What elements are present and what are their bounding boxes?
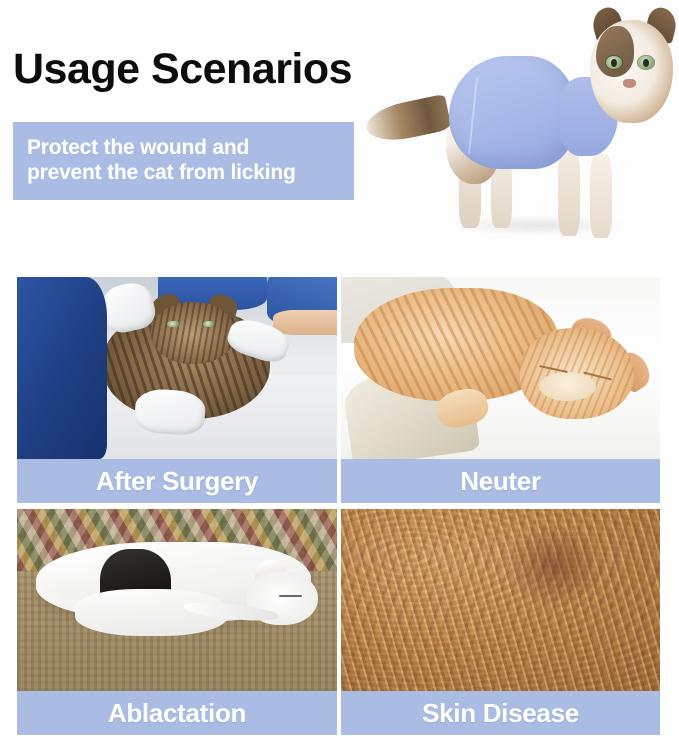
vet-scrubs-left bbox=[17, 277, 107, 459]
ablactation-photo bbox=[17, 509, 337, 691]
usage-scenarios-infographic: Usage Scenarios Protect the wound and pr… bbox=[0, 0, 679, 740]
nursing-cats-illustration bbox=[17, 509, 337, 691]
subtitle-line-1: Protect the wound and bbox=[27, 136, 249, 159]
after-surgery-photo bbox=[17, 277, 337, 459]
sleeping-ginger-cat-illustration bbox=[341, 277, 660, 459]
tile-label-text: Skin Disease bbox=[422, 698, 579, 729]
mother-cat-eye bbox=[279, 595, 301, 597]
tabby-eye-left bbox=[167, 321, 180, 327]
cat-front-leg-right bbox=[590, 154, 612, 238]
scenario-tile-after-surgery: After Surgery bbox=[17, 277, 337, 503]
subtitle-text: Protect the wound and prevent the cat fr… bbox=[13, 136, 304, 186]
scenario-tile-skin-disease: Skin Disease bbox=[341, 509, 660, 735]
scenario-tile-ablactation: Ablactation bbox=[17, 509, 337, 735]
fur-wave-pattern bbox=[341, 509, 660, 691]
cat-eye-right bbox=[638, 56, 655, 69]
cat-front-leg-left bbox=[558, 148, 580, 235]
page-title: Usage Scenarios bbox=[13, 48, 352, 91]
scenario-tile-neuter: Neuter bbox=[341, 277, 660, 503]
neuter-photo bbox=[341, 277, 660, 459]
tile-label-text: Neuter bbox=[460, 466, 541, 497]
tabby-eye-right bbox=[203, 321, 216, 327]
vet-arm bbox=[273, 310, 337, 335]
vet-exam-illustration bbox=[17, 277, 337, 459]
tile-label-text: After Surgery bbox=[96, 466, 258, 497]
tile-label-skin-disease: Skin Disease bbox=[341, 691, 660, 735]
tile-label-neuter: Neuter bbox=[341, 459, 660, 503]
ginger-muzzle bbox=[539, 372, 596, 401]
subtitle-line-2: prevent the cat from licking bbox=[27, 161, 296, 184]
tile-label-text: Ablactation bbox=[108, 698, 246, 729]
subtitle-banner: Protect the wound and prevent the cat fr… bbox=[13, 122, 354, 200]
golden-fur-macro-illustration bbox=[341, 509, 660, 691]
tile-label-after-surgery: After Surgery bbox=[17, 459, 337, 503]
cat-fur-patch bbox=[596, 26, 634, 77]
fur-dark-area bbox=[507, 524, 603, 608]
tile-label-ablactation: Ablactation bbox=[17, 691, 337, 735]
cat-in-recovery-suit-illustration bbox=[360, 0, 679, 256]
cat-nose bbox=[623, 79, 636, 87]
hero-product-photo bbox=[360, 0, 679, 256]
tabby-cat-head bbox=[151, 302, 234, 364]
skin-disease-photo bbox=[341, 509, 660, 691]
